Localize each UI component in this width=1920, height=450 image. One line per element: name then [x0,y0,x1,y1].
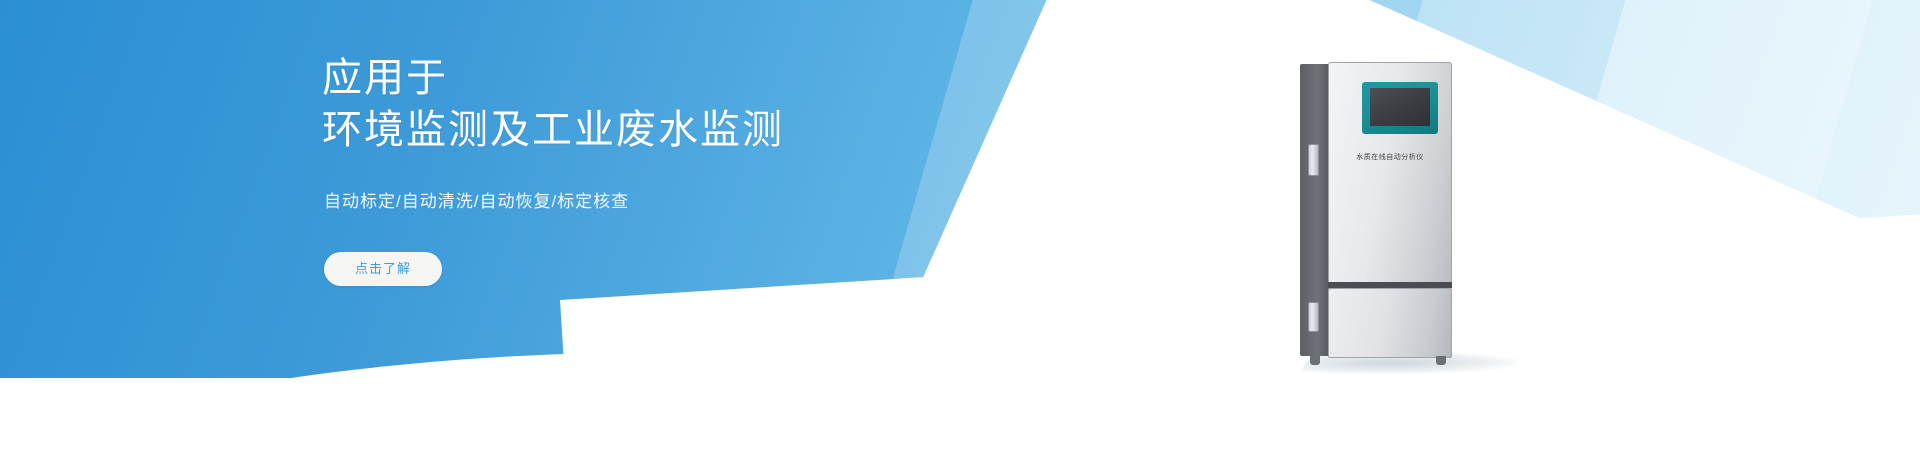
hero-subtitle: 自动标定/自动清洗/自动恢复/标定核查 [324,190,1082,214]
device-label: 水质在线自动分析仪 [1334,152,1446,162]
learn-more-button[interactable]: 点击了解 [324,252,442,286]
device-screen [1370,88,1430,126]
page-title: 应用于 环境监测及工业废水监测 [322,52,1082,156]
hero-banner: 应用于 环境监测及工业废水监测 自动标定/自动清洗/自动恢复/标定核查 点击了解… [0,0,1920,450]
device-lower-cabinet [1328,288,1452,358]
headline-line-2: 环境监测及工业废水监测 [322,104,1082,156]
water-quality-analyzer-image: 水质在线自动分析仪 [1300,60,1480,370]
device-handle-upper [1308,144,1319,176]
device-foot-left [1310,356,1320,365]
device-foot-right [1436,356,1446,365]
hero-content: 应用于 环境监测及工业废水监测 自动标定/自动清洗/自动恢复/标定核查 点击了解 [322,52,1082,286]
headline-line-1: 应用于 [322,52,1082,104]
device-handle-lower [1308,302,1319,332]
